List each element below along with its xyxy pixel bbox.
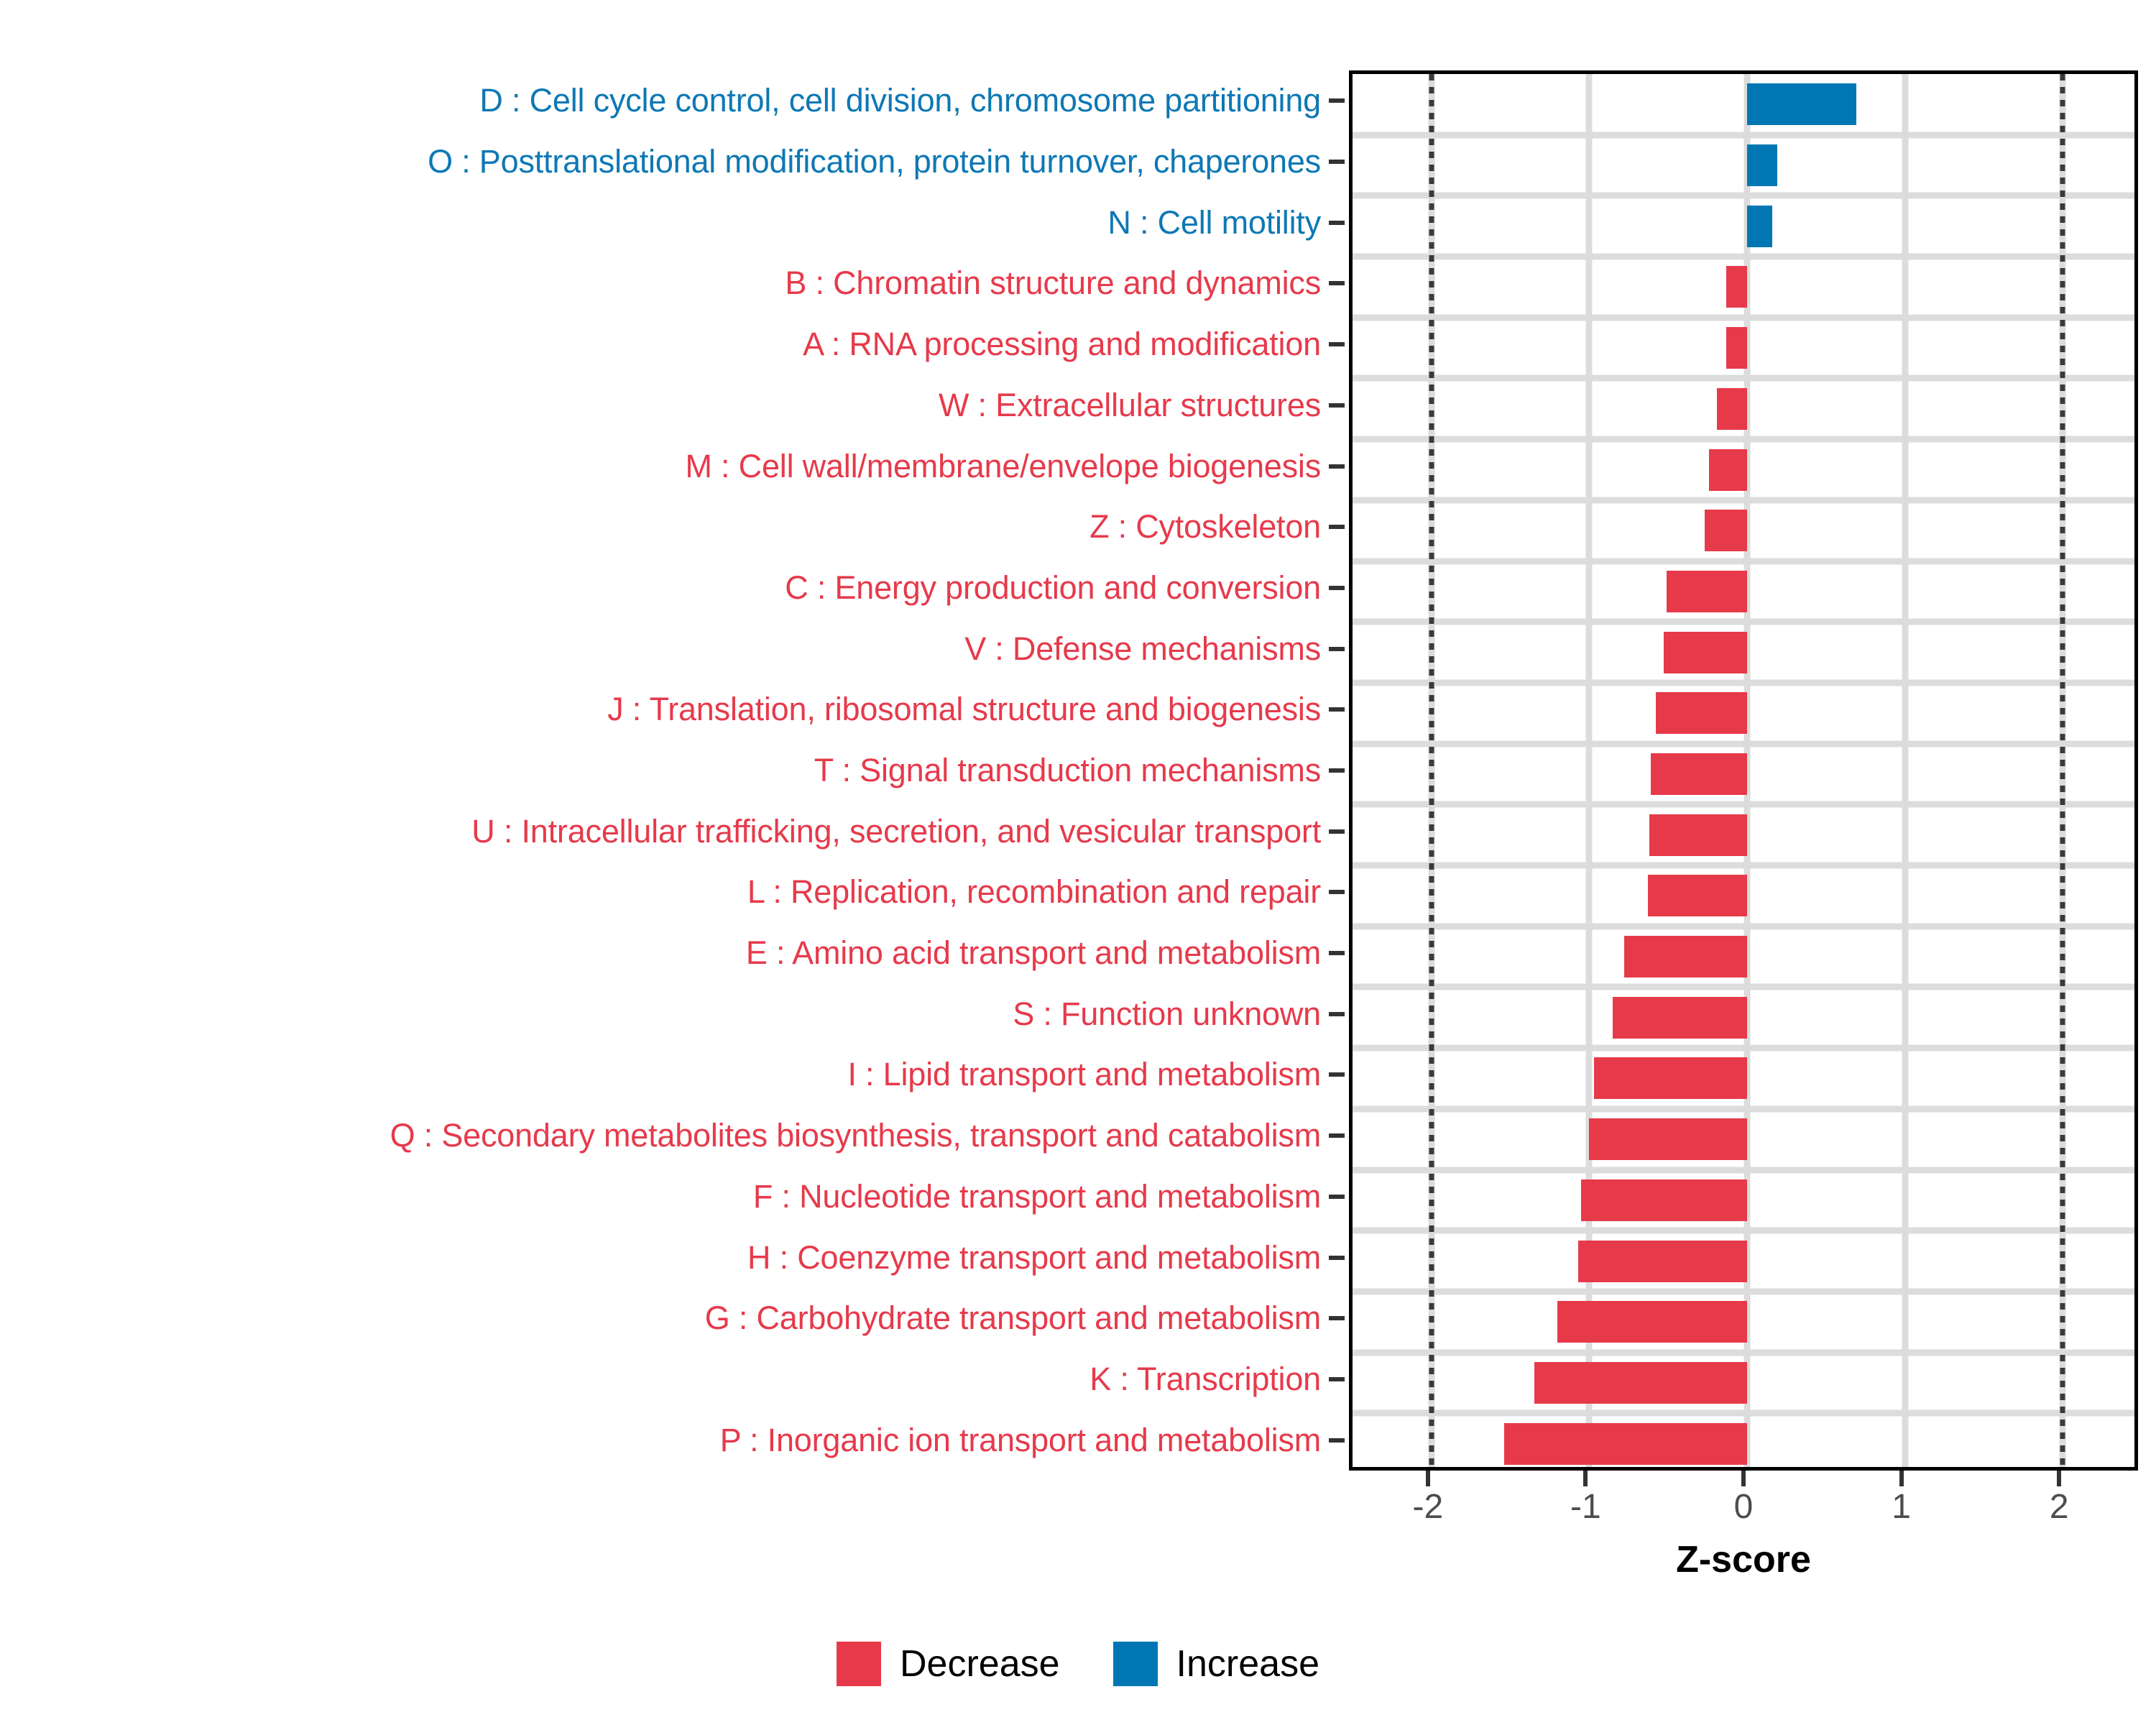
bar [1624, 936, 1747, 977]
legend-item[interactable]: Increase [1113, 1642, 1319, 1686]
x-axis-tick [1741, 1471, 1746, 1486]
bar [1534, 1362, 1747, 1404]
bar [1656, 692, 1747, 734]
category-label: W : Extracellular structures [0, 389, 1321, 421]
x-axis-tick-label: -2 [1370, 1488, 1485, 1527]
vertical-gridline [1902, 74, 1908, 1467]
y-axis-tick [1329, 829, 1345, 834]
category-label: D : Cell cycle control, cell division, c… [0, 84, 1321, 116]
category-label: P : Inorganic ion transport and metaboli… [0, 1424, 1321, 1456]
y-axis-tick [1329, 1256, 1345, 1260]
bar [1581, 1179, 1747, 1221]
x-axis-tick [1426, 1471, 1430, 1486]
bar [1747, 206, 1772, 247]
category-label: Q : Secondary metabolites biosynthesis, … [0, 1119, 1321, 1151]
legend-label: Decrease [900, 1645, 1060, 1683]
y-axis-tick [1329, 1012, 1345, 1016]
y-axis-tick [1329, 525, 1345, 529]
bar [1504, 1423, 1747, 1465]
category-label: B : Chromatin structure and dynamics [0, 267, 1321, 299]
category-label: A : RNA processing and modification [0, 328, 1321, 360]
y-axis-tick [1329, 1133, 1345, 1138]
bar [1747, 144, 1777, 186]
category-label: L : Replication, recombination and repai… [0, 875, 1321, 908]
y-axis-tick [1329, 1316, 1345, 1320]
y-axis-tick [1329, 403, 1345, 408]
category-label: E : Amino acid transport and metabolism [0, 937, 1321, 969]
y-axis-tick [1329, 1072, 1345, 1077]
category-label: F : Nucleotide transport and metabolism [0, 1180, 1321, 1213]
bar [1649, 814, 1747, 856]
category-label: C : Energy production and conversion [0, 571, 1321, 604]
bar [1726, 266, 1747, 308]
x-axis-tick-label: -1 [1528, 1488, 1643, 1527]
legend-label: Increase [1176, 1645, 1319, 1683]
category-label: K : Transcription [0, 1363, 1321, 1395]
cog-zscore-bar-chart: D : Cell cycle control, cell division, c… [0, 0, 2156, 1725]
x-axis-tick [2057, 1471, 2061, 1486]
bar [1557, 1301, 1747, 1343]
x-axis-tick-label: 1 [1844, 1488, 1959, 1527]
y-axis-tick [1329, 647, 1345, 651]
y-axis-tick [1329, 221, 1345, 225]
category-label-column: D : Cell cycle control, cell division, c… [0, 70, 1321, 1471]
bar [1709, 449, 1747, 491]
bar [1664, 632, 1747, 673]
y-axis-tick [1329, 1377, 1345, 1381]
category-label: I : Lipid transport and metabolism [0, 1058, 1321, 1090]
legend-swatch [837, 1642, 881, 1686]
category-label: V : Defense mechanisms [0, 632, 1321, 665]
plot-panel [1349, 70, 2138, 1471]
legend: DecreaseIncrease [0, 1632, 2156, 1696]
x-axis-tick-label: 0 [1686, 1488, 1801, 1527]
y-axis-tick [1329, 281, 1345, 285]
x-axis-tick [1899, 1471, 1904, 1486]
category-label: T : Signal transduction mechanisms [0, 754, 1321, 786]
bar [1717, 388, 1747, 430]
x-axis-title: Z-score [1349, 1538, 2138, 1581]
y-axis-tick [1329, 160, 1345, 164]
y-axis-tick [1329, 707, 1345, 712]
bar [1578, 1241, 1747, 1282]
x-axis-tick-label-row: -2-1012 [1349, 1488, 2138, 1531]
bar [1594, 1057, 1747, 1099]
y-axis-tick [1329, 98, 1345, 103]
legend-swatch [1113, 1642, 1158, 1686]
x-axis-tick [1583, 1471, 1588, 1486]
category-label: N : Cell motility [0, 206, 1321, 239]
y-axis-tick [1329, 768, 1345, 773]
threshold-reference-line [1429, 74, 1434, 1467]
bar [1747, 83, 1856, 125]
category-label: U : Intracellular trafficking, secretion… [0, 815, 1321, 847]
y-axis-tick [1329, 342, 1345, 346]
y-axis-tick [1329, 890, 1345, 894]
category-label: Z : Cytoskeleton [0, 510, 1321, 543]
legend-item[interactable]: Decrease [837, 1642, 1060, 1686]
category-label: O : Posttranslational modification, prot… [0, 145, 1321, 178]
y-axis-tick [1329, 951, 1345, 955]
category-label: M : Cell wall/membrane/envelope biogenes… [0, 450, 1321, 482]
category-label: J : Translation, ribosomal structure and… [0, 693, 1321, 725]
bar [1651, 753, 1747, 795]
x-axis-tick-row [1349, 1471, 2138, 1486]
y-axis-tick [1329, 464, 1345, 469]
category-label: H : Coenzyme transport and metabolism [0, 1241, 1321, 1274]
y-axis-tick-column [1329, 70, 1349, 1471]
y-axis-tick [1329, 586, 1345, 590]
bar [1726, 327, 1747, 369]
bar [1705, 510, 1747, 551]
bar [1613, 997, 1747, 1039]
category-label: S : Function unknown [0, 998, 1321, 1030]
bar [1648, 875, 1747, 916]
category-label: G : Carbohydrate transport and metabolis… [0, 1302, 1321, 1334]
threshold-reference-line [2060, 74, 2065, 1467]
y-axis-tick [1329, 1438, 1345, 1443]
bar [1589, 1118, 1747, 1160]
x-axis-tick-label: 2 [2001, 1488, 2116, 1527]
bar [1667, 571, 1747, 612]
y-axis-tick [1329, 1195, 1345, 1199]
